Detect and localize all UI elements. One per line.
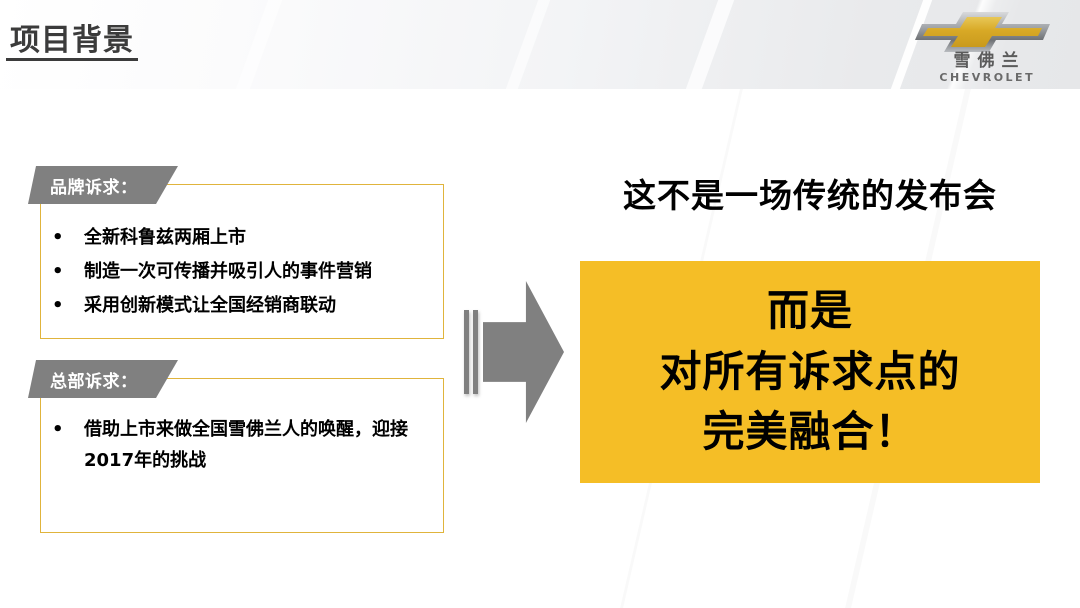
list-item: • 制造一次可传播并吸引人的事件营销 <box>46 256 438 287</box>
header-stripe <box>221 0 293 89</box>
hq-demand-list: • 借助上市来做全国雪佛兰人的唤醒，迎接2017年的挑战 <box>46 414 438 479</box>
list-item: • 采用创新模式让全国经销商联动 <box>46 290 438 321</box>
header-stripe <box>491 0 561 89</box>
bullet-icon: • <box>46 414 84 445</box>
headline-text: 这不是一场传统的发布会 <box>580 176 1040 216</box>
callout-line: 对所有诉求点的 <box>659 342 960 403</box>
hq-demand-tab-label: 总部诉求： <box>50 367 138 392</box>
list-item: • 全新科鲁兹两厢上市 <box>46 222 438 253</box>
list-item-text: 全新科鲁兹两厢上市 <box>84 222 438 253</box>
arrow-motion-line <box>464 310 469 394</box>
list-item-text: 制造一次可传播并吸引人的事件营销 <box>84 256 438 287</box>
logo-chinese-name: 雪佛兰 <box>900 52 1072 71</box>
list-item-text: 借助上市来做全国雪佛兰人的唤醒，迎接2017年的挑战 <box>84 414 438 476</box>
slide-canvas: 项目背景 雪佛兰 CHEV <box>0 0 1080 608</box>
arrow-body <box>483 281 564 423</box>
callout-box: 而是 对所有诉求点的 完美融合！ <box>580 261 1040 483</box>
title-underline <box>6 58 138 61</box>
list-item-text: 采用创新模式让全国经销商联动 <box>84 290 438 321</box>
hq-demand-tab: 总部诉求： <box>28 360 178 398</box>
brand-demand-tab-label: 品牌诉求： <box>50 173 138 198</box>
page-title: 项目背景 <box>10 26 134 56</box>
list-item: • 借助上市来做全国雪佛兰人的唤醒，迎接2017年的挑战 <box>46 414 438 476</box>
callout-line: 而是 <box>767 281 853 342</box>
chevrolet-logo: 雪佛兰 CHEVROLET <box>900 4 1072 88</box>
brand-demand-list: • 全新科鲁兹两厢上市 • 制造一次可传播并吸引人的事件营销 • 采用创新模式让… <box>46 222 438 324</box>
callout-line: 完美融合！ <box>702 402 917 463</box>
chevrolet-bowtie-icon <box>900 4 1072 52</box>
brand-demand-tab: 品牌诉求： <box>28 166 178 204</box>
arrow-motion-line <box>473 310 478 394</box>
right-arrow-icon <box>462 281 564 423</box>
bullet-icon: • <box>46 222 84 253</box>
header-stripe <box>671 0 745 89</box>
logo-english-name: CHEVROLET <box>900 72 1072 83</box>
bullet-icon: • <box>46 290 84 321</box>
bullet-icon: • <box>46 256 84 287</box>
